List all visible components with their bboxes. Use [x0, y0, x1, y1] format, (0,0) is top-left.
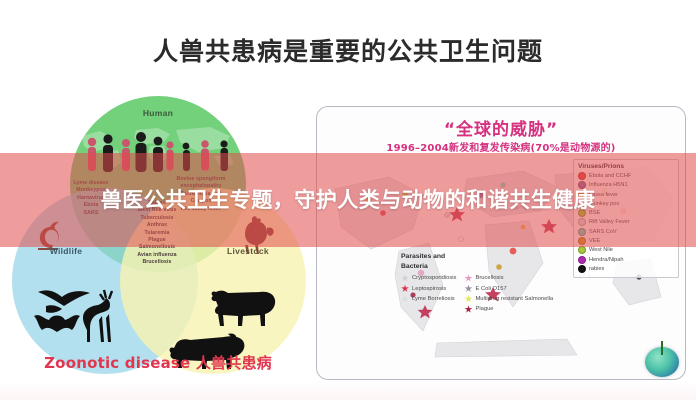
- venn-label-livestock: Livestock: [208, 246, 288, 256]
- venn-label-human: Human: [118, 108, 198, 118]
- legend-label: E Coli O157: [475, 286, 506, 292]
- star-icon: [464, 295, 472, 303]
- bat-silhouette: [32, 310, 82, 336]
- overlay-banner: 兽医公共卫生专题，守护人类与动物的和谐共生健康: [0, 153, 696, 247]
- legend-item: Lyme Borreliosis: [401, 295, 456, 303]
- star-icon: [464, 305, 472, 313]
- legend-label: Cryptosporidiosis: [412, 275, 456, 281]
- legend-item: Multidrug resistant Salmonella: [464, 295, 553, 303]
- disease-item: Brucellosis: [118, 259, 196, 266]
- legend-item: Plague: [464, 305, 553, 313]
- legend-label: Multidrug resistant Salmonella: [475, 296, 553, 302]
- overlay-banner-text: 兽医公共卫生专题，守护人类与动物的和谐共生健康: [48, 185, 648, 216]
- legend-heading-line1: Parasites and: [401, 253, 601, 261]
- globe-icon: [645, 347, 679, 377]
- legend-label: Lyme Borreliosis: [412, 296, 455, 302]
- legend-item: Leptospirosis: [401, 285, 456, 293]
- venn-caption-cn: 人兽共患病: [196, 354, 272, 372]
- star-icon: [464, 285, 472, 293]
- legend-heading-line2: Bacteria: [401, 263, 601, 271]
- disease-item: Avian influenza: [118, 252, 196, 259]
- legend-parasites-bacteria: Parasites and Bacteria Cryptosporidiosis…: [401, 253, 601, 315]
- cow-silhouette: [208, 284, 282, 330]
- venn-label-wildlife: Wildlife: [26, 246, 106, 256]
- legend-item: Brucellosis: [464, 274, 553, 282]
- legend-column-right: Brucellosis E Coli O157 Multidrug resist…: [464, 273, 553, 315]
- star-icon: [401, 295, 409, 303]
- legend-item: Cryptosporidiosis: [401, 274, 456, 282]
- map-panel-subtitle: 1996–2004新发和复发传染病(70%是动物源的): [317, 139, 685, 154]
- bottom-fade: [0, 382, 696, 400]
- legend-label: Plague: [475, 306, 493, 312]
- legend-column-left: Cryptosporidiosis Leptospirosis Lyme Bor…: [401, 273, 456, 315]
- legend-label: Brucellosis: [475, 275, 503, 281]
- star-icon: [464, 274, 472, 282]
- legend-label: Leptospirosis: [412, 286, 446, 292]
- star-icon: [401, 285, 409, 293]
- legend-item: E Coli O157: [464, 285, 553, 293]
- screenshot-root: 人兽共患病是重要的公共卫生问题: [0, 0, 696, 400]
- star-icon: [401, 274, 409, 282]
- deer-silhouette: [76, 288, 124, 344]
- map-panel-title: “全球的威胁”: [317, 115, 685, 140]
- page-headline: 人兽共患病是重要的公共卫生问题: [0, 32, 696, 68]
- venn-caption: Zoonotic disease 人兽共患病: [0, 352, 316, 373]
- venn-caption-en: Zoonotic disease: [44, 354, 190, 372]
